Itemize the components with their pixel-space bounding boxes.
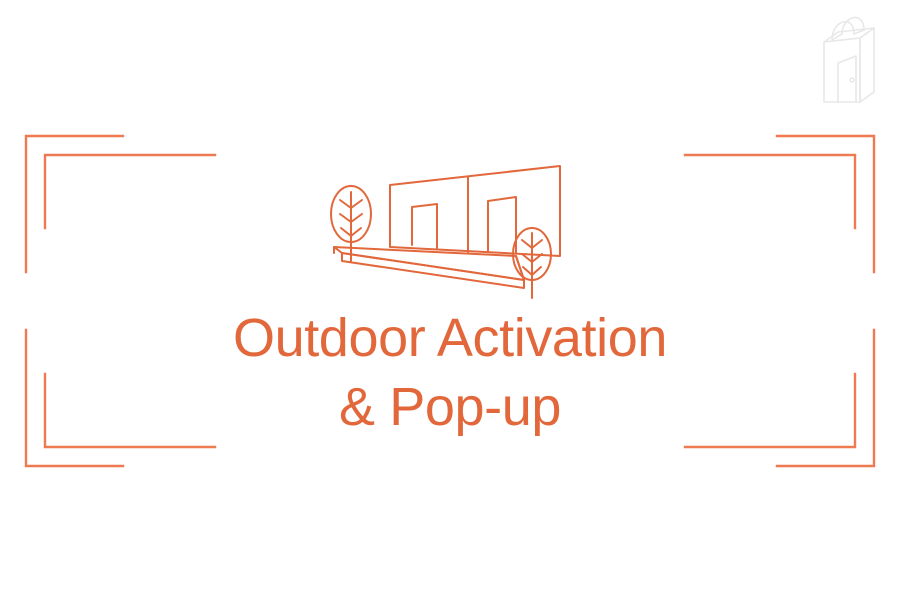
left-tree bbox=[331, 186, 371, 262]
bag-side-face bbox=[860, 28, 874, 102]
page-title-line-2: & Pop-up bbox=[0, 373, 900, 442]
page-title: Outdoor Activation & Pop-up bbox=[0, 304, 900, 442]
facade-wall bbox=[390, 166, 560, 256]
right-door bbox=[488, 197, 516, 253]
bracket-top-right-inner bbox=[685, 155, 855, 228]
bracket-top-left-inner bbox=[45, 155, 215, 228]
left-door bbox=[412, 204, 437, 248]
slide-canvas: Outdoor Activation & Pop-up bbox=[0, 0, 900, 600]
sidewalk-edge bbox=[342, 253, 524, 288]
shopping-bag-icon bbox=[808, 8, 888, 108]
bracket-top-left-outer bbox=[26, 136, 123, 272]
bracket-top-right-outer bbox=[777, 136, 874, 272]
bag-door-knob bbox=[850, 78, 854, 82]
storefront-facade-illustration bbox=[320, 152, 580, 302]
page-title-line-1: Outdoor Activation bbox=[0, 304, 900, 373]
bag-front-face bbox=[824, 38, 860, 102]
